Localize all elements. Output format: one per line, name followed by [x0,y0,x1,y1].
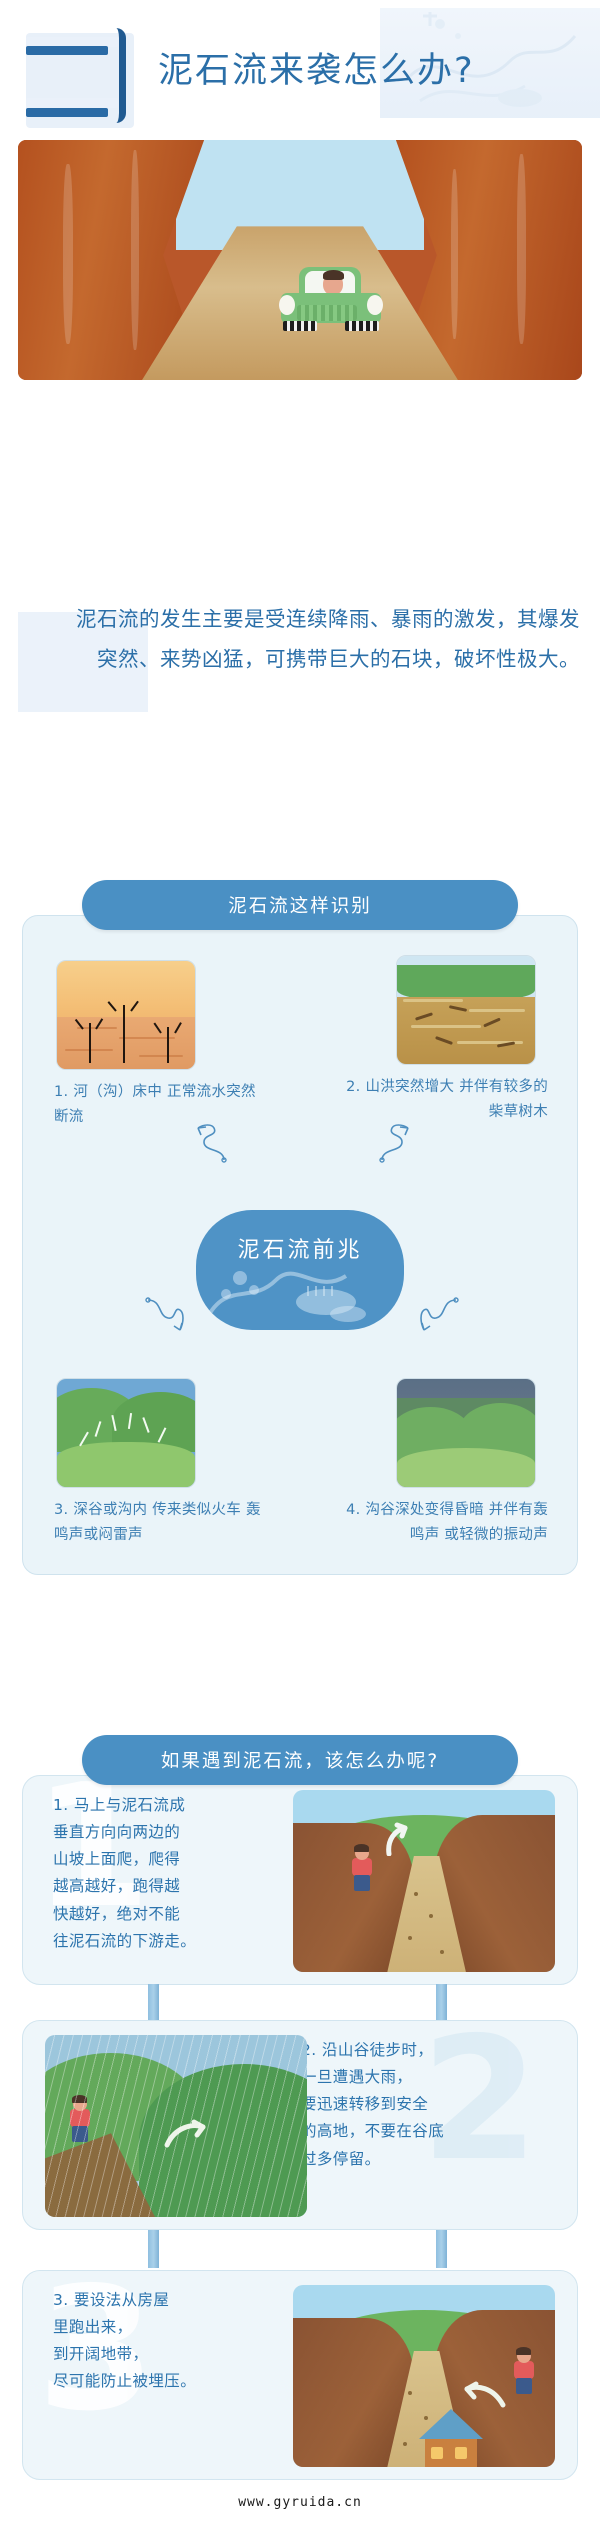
intro-paragraph: 泥石流的发生主要是受连续降雨、暴雨的激发，其爆发突然、来势凶猛，可携带巨大的石块… [0,600,600,680]
mud-rock [440,1950,444,1954]
direction-arrow-icon [463,2375,507,2411]
identify-item-3: 3. 深谷或沟内 传来类似火车 轰鸣声或闷雷声 [48,1378,268,1547]
identify-item-2: 2. 山洪突然增大 并伴有较多的柴草树木 [332,955,552,1124]
identify-thumb-2 [396,955,536,1065]
valley-foreground [57,1442,195,1487]
center-badge: 泥石流前兆 [196,1210,404,1330]
dead-tree [89,1023,91,1063]
identify-caption-3: 3. 深谷或沟内 传来类似火车 轰鸣声或闷雷声 [48,1498,268,1547]
mud-rock [429,1914,433,1918]
person-hair [354,1844,369,1852]
ground-crack [139,1055,183,1057]
whattodo-card-2: 2 2. 沿山谷徒步时， 一旦遭遇大雨， 要迅速转移到安全 的高地，不要在谷底 … [22,2020,578,2230]
identify-item-1: 1. 河（沟）床中 正常流水突然断流 [48,960,268,1129]
hero-rock-streak [131,150,139,350]
card-connector-legs-1 [22,1984,578,2022]
house-window [431,2447,443,2459]
hero-rock-streak [517,154,526,344]
intro-section: 泥石流的发生主要是受连续降雨、暴雨的激发，其爆发突然、来势凶猛，可携带巨大的石块… [0,600,600,680]
direction-arrow-icon [381,1822,415,1856]
whattodo-card-2-image [45,2035,307,2217]
dark-foreground [397,1448,535,1487]
person-hair [516,2347,531,2355]
whattodo-card-1-image [293,1790,555,1972]
curl-arrow-icon [418,1294,464,1340]
page-title: 泥石流来袭怎么办? [158,42,475,93]
water-wave [411,1025,481,1028]
dead-tree [123,1005,125,1063]
mud-rock [408,2391,412,2395]
hero-car [277,265,385,333]
running-person [349,1846,375,1892]
house-window [455,2447,467,2459]
number-badge-inner-bottom [26,98,118,108]
car-headlight-right [367,295,383,315]
hero-illustration [18,140,582,380]
connector-leg [148,1984,159,2022]
identify-item-4: 4. 沟谷深处变得昏暗 并伴有轰鸣声 或轻微的振动声 [332,1378,552,1547]
number-badge-bar-top [26,46,108,55]
identify-caption-1: 1. 河（沟）床中 正常流水突然断流 [48,1080,268,1129]
identify-thumb-4 [396,1378,536,1488]
whattodo-card-3: 3 3. 要设法从房屋 里跑出来， 到开阔地带， 尽可能防止被埋压。 [22,2270,578,2480]
number-badge-bar-bottom [26,108,108,117]
card-connector-legs-2 [22,2230,578,2268]
dead-tree [167,1027,169,1063]
driver-hair [323,270,344,280]
mud-rock [403,2442,407,2446]
whattodo-card-3-image [293,2285,555,2467]
identify-banner: 泥石流这样识别 [82,880,518,930]
car-tread-right [345,321,379,331]
curl-arrow-icon [140,1294,186,1340]
whattodo-card-2-text: 2. 沿山谷徒步时， 一旦遭遇大雨， 要迅速转移到安全 的高地，不要在谷底 过多… [301,2037,551,2173]
page-header: 泥石流来袭怎么办? [0,0,600,130]
mud-rock [424,2416,428,2420]
whattodo-card-1-text: 1. 马上与泥石流成 垂直方向向两边的 山坡上面爬，爬得 越高越好，跑得越 快越… [53,1792,303,1955]
hero-rock-streak [63,164,73,344]
curl-arrow-icon [188,1118,234,1164]
whattodo-banner: 如果遇到泥石流，该怎么办呢? [82,1735,518,1785]
footer-watermark: www.gyruida.cn [0,2495,600,2510]
person-body [352,1858,372,1876]
rain-overlay [45,2035,307,2217]
water-wave [403,999,463,1002]
connector-leg [148,2230,159,2268]
flood-hillside [397,965,535,1002]
person-legs [516,2378,532,2394]
curl-arrow-icon [372,1118,418,1164]
whattodo-card-1: 1 1. 马上与泥石流成 垂直方向向两边的 山坡上面爬，爬得 越高越好，跑得越 … [22,1775,578,1985]
water-wave [469,1009,525,1012]
flood-muddy-water [397,997,535,1064]
connector-leg [436,2230,447,2268]
mud-rock [408,1936,412,1940]
badge-splash-icon [196,1210,404,1330]
person-body [514,2361,534,2379]
person-legs [354,1875,370,1891]
section-number-badge [18,28,134,128]
identify-thumb-3 [56,1378,196,1488]
mud-rock [414,1892,418,1896]
identify-caption-4: 4. 沟谷深处变得昏暗 并伴有轰鸣声 或轻微的振动声 [332,1498,552,1547]
identify-caption-2: 2. 山洪突然增大 并伴有较多的柴草树木 [332,1075,552,1124]
fleeing-person [511,2349,537,2395]
whattodo-card-3-text: 3. 要设法从房屋 里跑出来， 到开阔地带， 尽可能防止被埋压。 [53,2287,303,2396]
car-grill [297,305,357,321]
car-tread-left [283,321,317,331]
hero-rock-streak [451,169,458,339]
connector-leg [436,1984,447,2022]
identify-thumb-1 [56,960,196,1070]
